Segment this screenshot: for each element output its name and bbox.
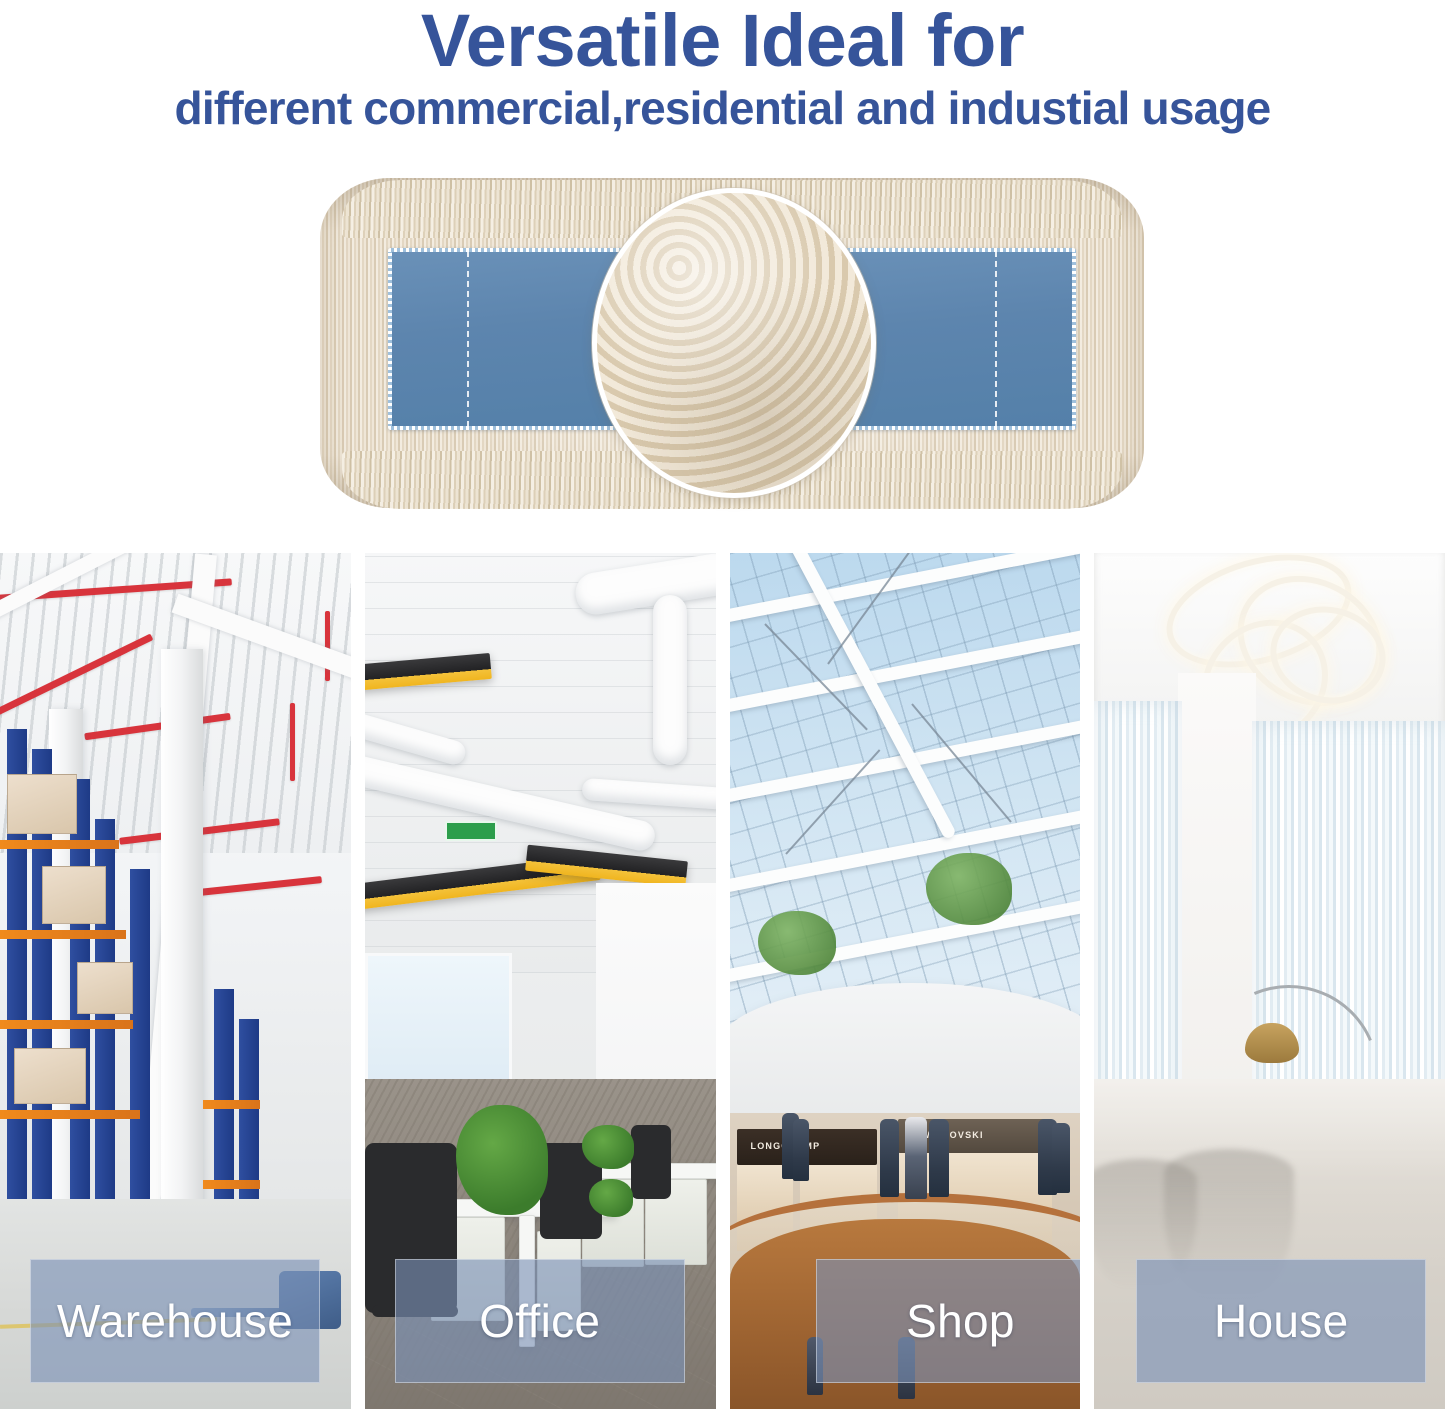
rack-beam	[203, 1100, 259, 1109]
shopper-figure	[793, 1119, 809, 1181]
photo-panel-house: House	[1094, 553, 1445, 1409]
product-hero-image	[302, 172, 1162, 517]
mop-pocket-stitch-right	[995, 251, 997, 427]
stored-carton	[7, 774, 77, 834]
office-task-chair	[631, 1125, 671, 1199]
office-plant	[582, 1125, 634, 1169]
rack-beam	[0, 840, 119, 849]
stored-carton	[42, 866, 106, 924]
usage-label-text: Warehouse	[57, 1297, 293, 1345]
atrium-tree	[926, 853, 1012, 925]
mop-pocket-stitch-left	[467, 251, 469, 427]
photo-panel-shop: LONGCHAMP SWAROVSKI Shop	[730, 553, 1081, 1409]
office-plant	[589, 1179, 633, 1217]
exit-sign	[445, 821, 497, 841]
photo-panel-warehouse: Warehouse	[0, 553, 351, 1409]
sprinkler-drop	[290, 703, 295, 781]
sprinkler-drop	[325, 611, 330, 681]
headline-secondary: different commercial,residential and ind…	[0, 82, 1445, 134]
usage-photo-grid: Warehouse	[0, 553, 1445, 1409]
headline-block: Versatile Ideal for different commercial…	[0, 0, 1445, 150]
usage-label-text: House	[1214, 1297, 1348, 1345]
shopper-figure	[905, 1117, 927, 1199]
shop-glass-mullion-grid	[730, 553, 1081, 1053]
rack-beam	[0, 1020, 133, 1029]
shopper-figure	[929, 1119, 949, 1197]
hvac-duct-riser	[653, 595, 687, 765]
usage-label-text: Shop	[906, 1297, 1015, 1345]
sprinkler-pipe	[189, 876, 322, 897]
rack-beam	[0, 1110, 140, 1119]
usage-label-text: Office	[479, 1297, 600, 1345]
shopper-figure	[1052, 1123, 1070, 1193]
usage-label-house: House	[1136, 1259, 1426, 1383]
stored-carton	[14, 1048, 86, 1104]
store-name-text: SWAROVSKI	[918, 1130, 984, 1140]
atrium-tree	[758, 911, 836, 975]
headline-primary: Versatile Ideal for	[0, 0, 1445, 80]
shopper-figure	[880, 1119, 899, 1197]
rack-beam	[203, 1180, 259, 1189]
stored-carton	[77, 962, 133, 1014]
usage-label-shop: Shop	[816, 1259, 1081, 1383]
product-banner: Versatile Ideal for different commercial…	[0, 0, 1445, 1409]
rack-beam	[0, 930, 126, 939]
usage-label-office: Office	[395, 1259, 685, 1383]
yarn-detail-inset-circle	[592, 188, 876, 498]
usage-label-warehouse: Warehouse	[30, 1259, 320, 1383]
photo-panel-office: Office	[365, 553, 716, 1409]
